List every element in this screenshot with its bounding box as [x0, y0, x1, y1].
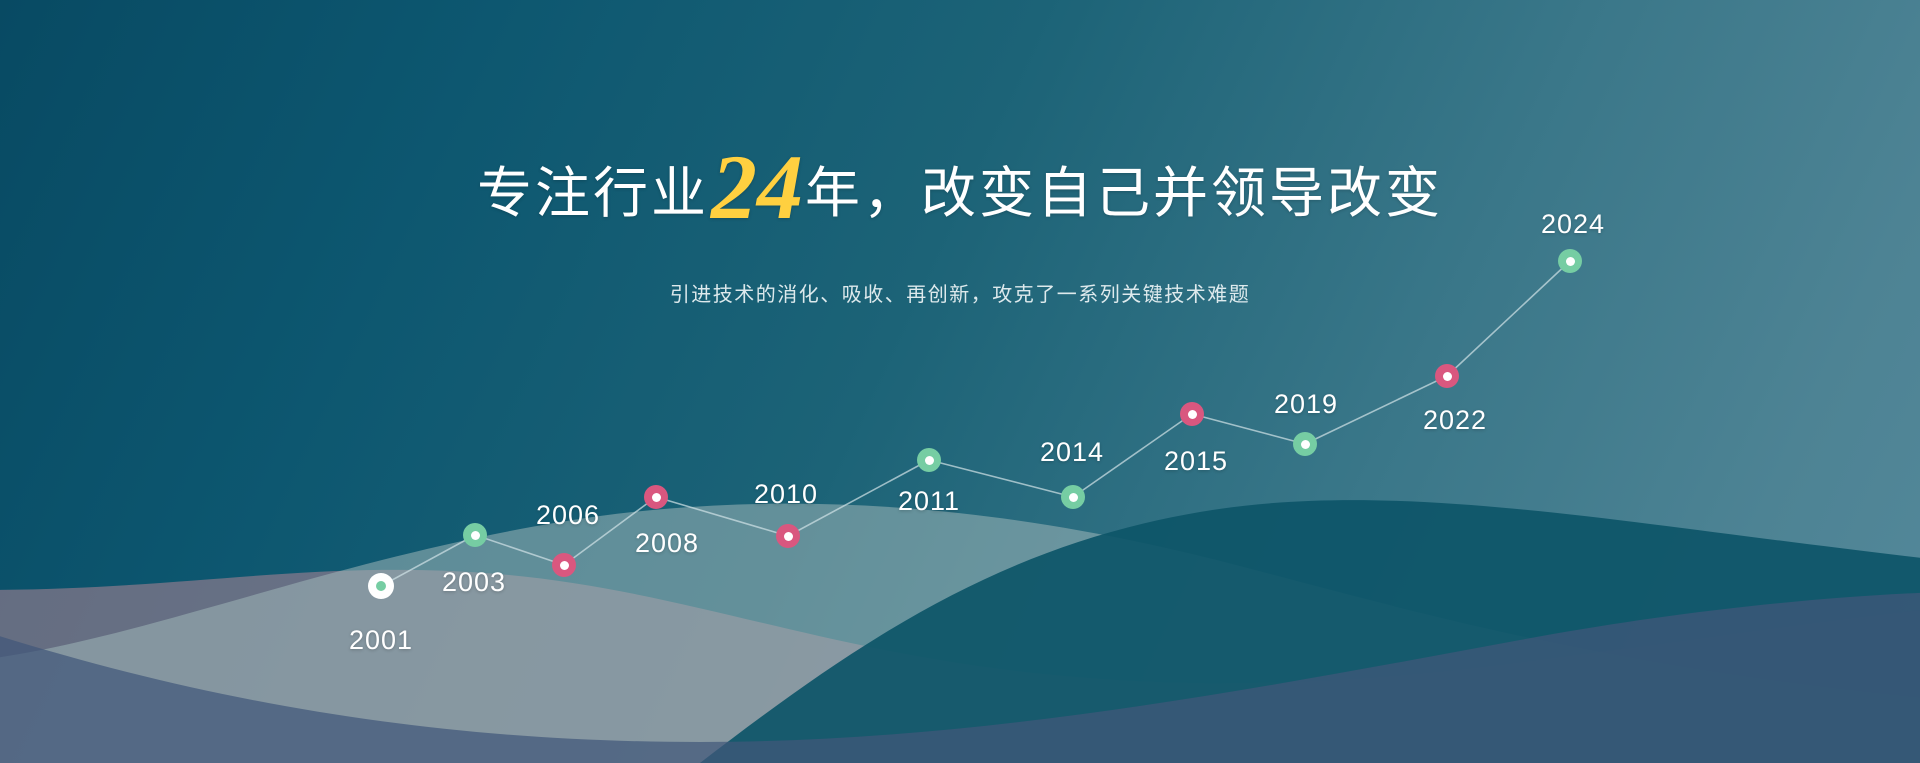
- timeline-node-2015[interactable]: [1180, 402, 1204, 426]
- node-core-dot-icon: [1069, 493, 1078, 502]
- node-core-dot-icon: [376, 581, 386, 591]
- timeline-node-2011[interactable]: [917, 448, 941, 472]
- timeline-node-2010[interactable]: [776, 524, 800, 548]
- timeline-year-label-2008: 2008: [635, 528, 699, 558]
- timeline-node-2003[interactable]: [463, 523, 487, 547]
- timeline-year-label-2015: 2015: [1164, 446, 1228, 476]
- timeline-node-2001[interactable]: [368, 573, 394, 599]
- timeline-node-2019[interactable]: [1293, 432, 1317, 456]
- page-subtitle: 引进技术的消化、吸收、再创新，攻克了一系列关键技术难题: [0, 282, 1920, 308]
- headline-number: 24: [709, 136, 805, 238]
- timeline-nodes: 2001200320062008201020112014201520192022…: [0, 0, 1920, 763]
- node-core-dot-icon: [784, 532, 793, 541]
- node-core-dot-icon: [1301, 440, 1310, 449]
- timeline-year-label-2019: 2019: [1274, 389, 1338, 419]
- node-core-dot-icon: [652, 493, 661, 502]
- node-core-dot-icon: [1566, 257, 1575, 266]
- timeline-year-label-2006: 2006: [536, 500, 600, 530]
- node-core-dot-icon: [560, 561, 569, 570]
- page-title: 专注行业24年，改变自己并领导改变: [0, 152, 1920, 228]
- timeline-year-label-2014: 2014: [1040, 437, 1104, 467]
- node-core-dot-icon: [1188, 410, 1197, 419]
- timeline-year-label-2011: 2011: [898, 486, 960, 516]
- headline-prefix: 专注行业: [477, 162, 709, 224]
- node-core-dot-icon: [925, 456, 934, 465]
- headline-suffix: 年，改变自己并领导改变: [805, 162, 1443, 224]
- timeline-node-2008[interactable]: [644, 485, 668, 509]
- timeline-year-label-2010: 2010: [754, 479, 818, 509]
- timeline-node-2024[interactable]: [1558, 249, 1582, 273]
- banner-stage: 2001200320062008201020112014201520192022…: [0, 0, 1920, 763]
- timeline-node-2014[interactable]: [1061, 485, 1085, 509]
- timeline-year-label-2022: 2022: [1423, 405, 1487, 435]
- node-core-dot-icon: [1443, 372, 1452, 381]
- timeline-node-2006[interactable]: [552, 553, 576, 577]
- timeline-year-label-2003: 2003: [442, 567, 506, 597]
- timeline-year-label-2001: 2001: [349, 625, 413, 655]
- node-core-dot-icon: [471, 531, 480, 540]
- timeline-node-2022[interactable]: [1435, 364, 1459, 388]
